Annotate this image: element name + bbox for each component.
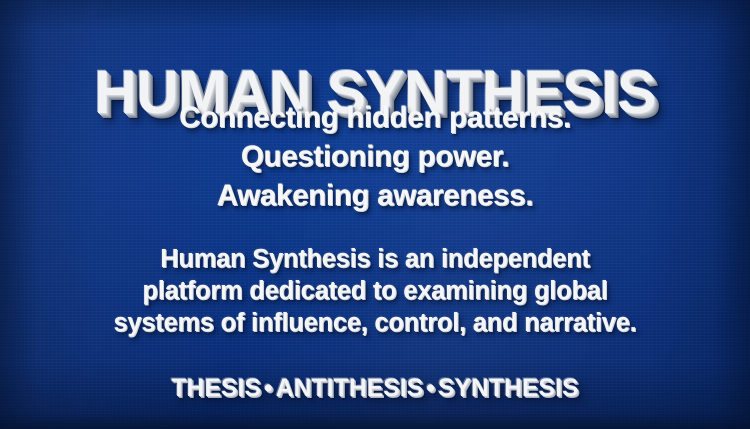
subtitle-line-2: Questioning power.	[0, 137, 750, 176]
banner-content: HUMAN SYNTHESIS Connecting hidden patter…	[0, 0, 750, 429]
subtitle-line-3: Awakening awareness.	[0, 176, 750, 215]
bullet-separator-icon-2: •	[423, 374, 438, 402]
description-line-3: systems of influence, control, and narra…	[0, 307, 750, 339]
description-line-1: Human Synthesis is an independent	[0, 243, 750, 275]
subtitle-line-1: Connecting hidden patterns.	[0, 98, 750, 137]
description-line-2: platform dedicated to examining global	[0, 275, 750, 307]
tagline-item-thesis: THESIS	[171, 374, 261, 402]
tagline-item-synthesis: SYNTHESIS	[438, 374, 579, 402]
bullet-separator-icon: •	[261, 374, 276, 402]
description-block: Human Synthesis is an independent platfo…	[0, 243, 750, 339]
human-synthesis-banner: HUMAN SYNTHESIS Connecting hidden patter…	[0, 0, 750, 429]
tagline: THESIS•ANTITHESIS•SYNTHESIS	[8, 372, 743, 404]
tagline-item-antithesis: ANTITHESIS	[276, 374, 424, 402]
subtitle-block: Connecting hidden patterns. Questioning …	[0, 98, 750, 215]
